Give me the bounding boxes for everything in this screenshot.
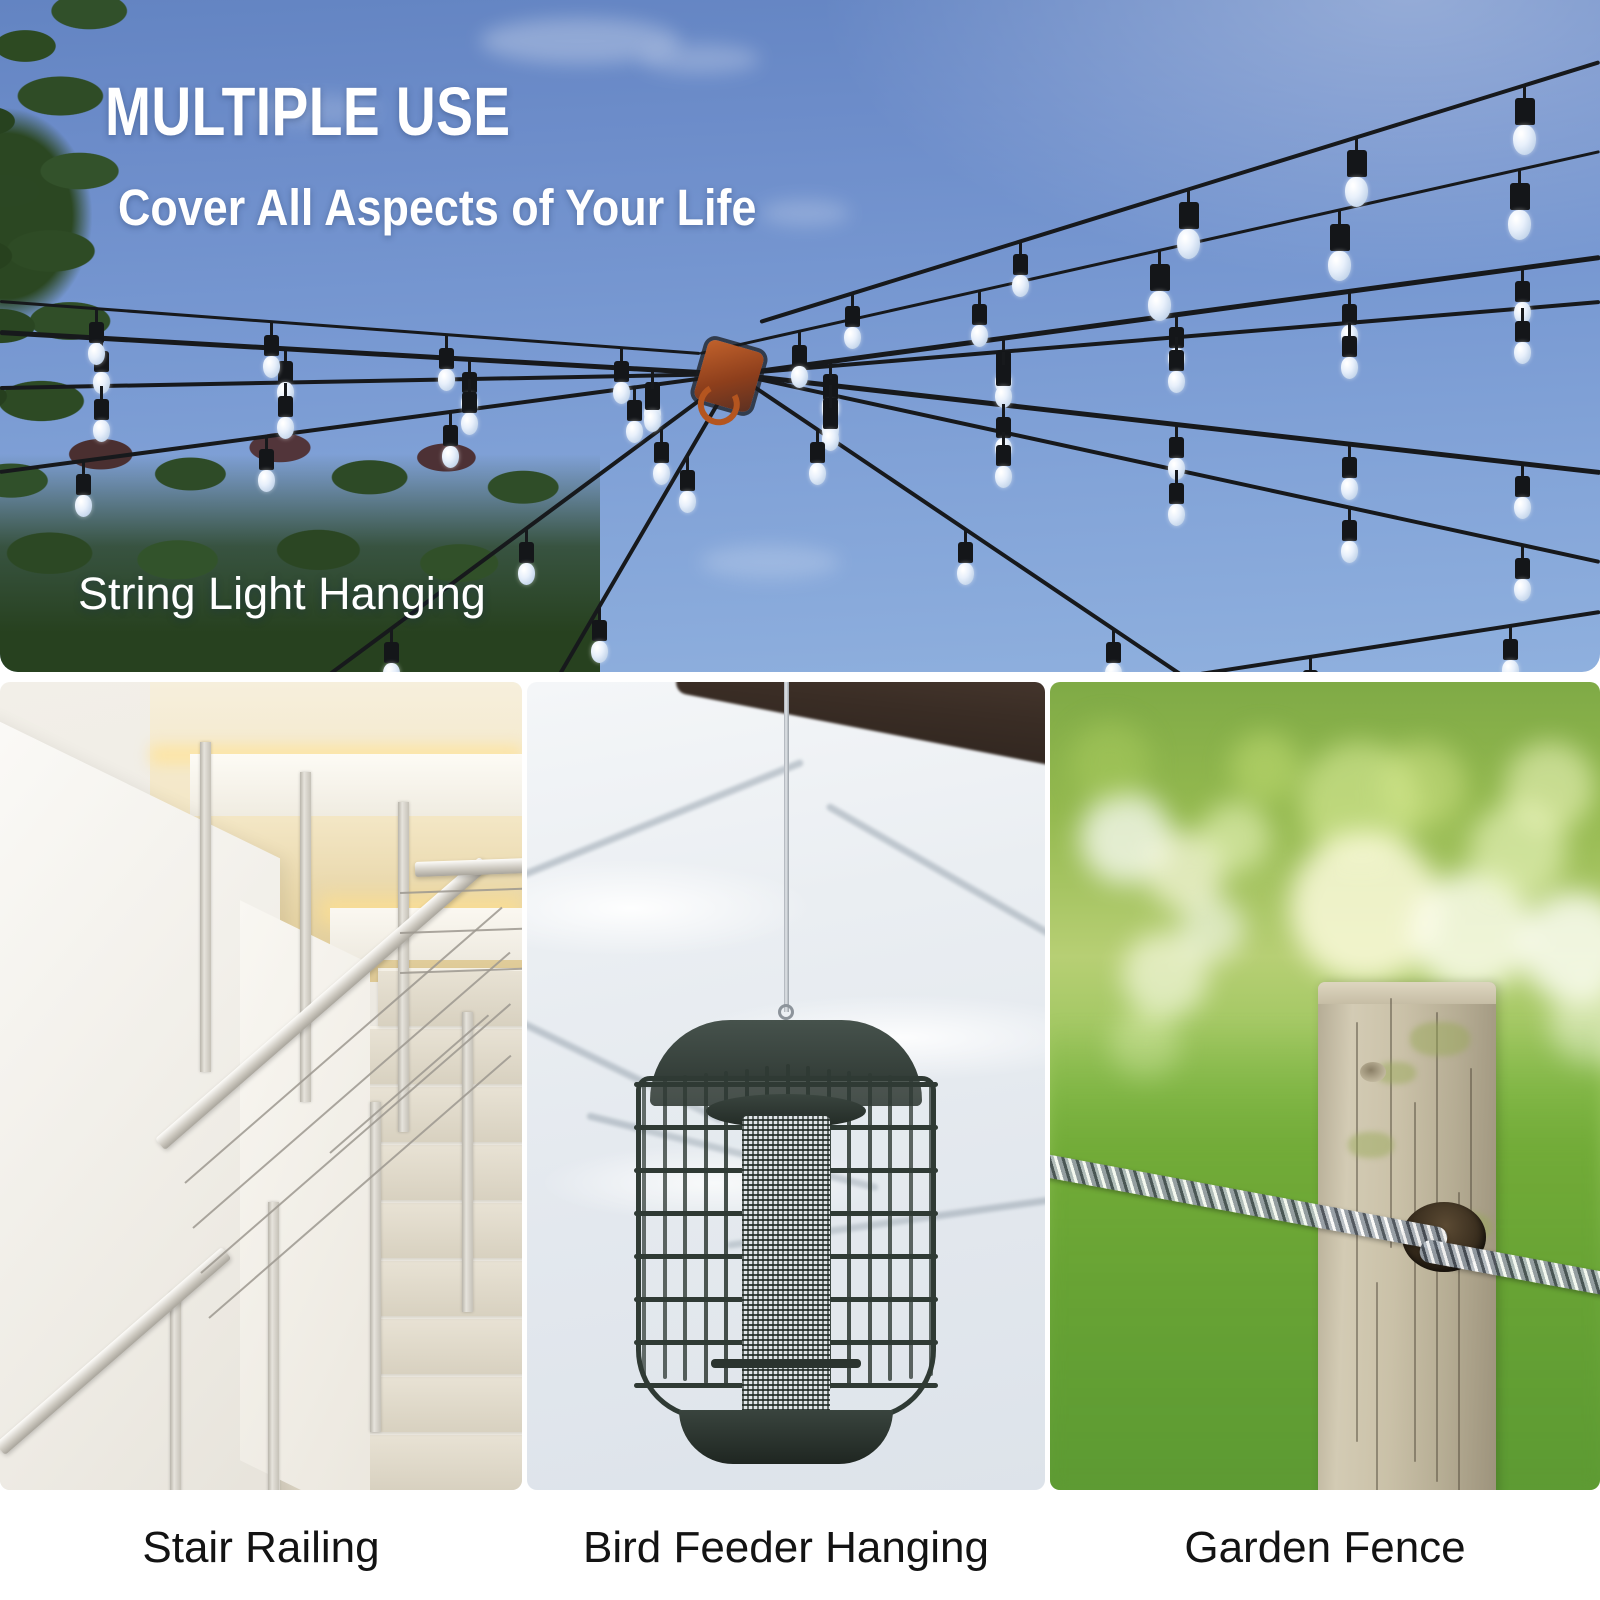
wall-ledge xyxy=(190,754,522,816)
light-bulb xyxy=(1513,85,1536,155)
panel-captions: Stair Railing Bird Feeder Hanging Garden… xyxy=(0,1496,1600,1600)
light-bulb xyxy=(971,291,988,347)
cable-hub-connector xyxy=(693,338,766,414)
light-bulb xyxy=(1012,241,1029,297)
railing-post xyxy=(370,1102,381,1432)
light-bulb xyxy=(1508,170,1531,240)
hero-image-string-light-hanging: MULTIPLE USE Cover All Aspects of Your L… xyxy=(0,0,1600,672)
light-bulb xyxy=(1168,337,1185,393)
light-bulb xyxy=(644,376,661,432)
light-bulb xyxy=(1341,323,1358,379)
light-bulb xyxy=(263,322,280,378)
panel-stair-railing xyxy=(0,682,522,1490)
caption-garden-fence: Garden Fence xyxy=(1050,1496,1600,1600)
light-bulb xyxy=(1341,444,1358,500)
hanging-steel-cable xyxy=(784,682,789,1012)
bokeh-spot xyxy=(1230,732,1300,802)
garden-fence-photo xyxy=(1050,682,1600,1490)
caption-bird-feeder-hanging: Bird Feeder Hanging xyxy=(527,1496,1045,1600)
light-bulb xyxy=(258,436,275,492)
product-feature-image: MULTIPLE USE Cover All Aspects of Your L… xyxy=(0,0,1600,1600)
railing-post xyxy=(462,1012,473,1312)
light-bulb xyxy=(438,335,455,391)
wood-crack xyxy=(1414,1102,1416,1462)
caption-stair-railing: Stair Railing xyxy=(0,1496,522,1600)
light-cable xyxy=(1200,610,1600,672)
light-bulb xyxy=(1514,308,1531,364)
moss-patch xyxy=(1410,1022,1470,1056)
light-bulb xyxy=(995,352,1012,408)
light-bulb xyxy=(461,379,478,435)
hero-caption: String Light Hanging xyxy=(78,571,486,616)
light-bulb xyxy=(88,309,105,365)
cloud xyxy=(760,200,850,226)
railing-post xyxy=(200,742,211,1072)
cage-vertical-wire xyxy=(868,1073,872,1384)
bird-feeder-photo xyxy=(527,682,1045,1490)
cage-horizontal-ring xyxy=(634,1082,938,1087)
cage-vertical-wire xyxy=(909,1078,913,1379)
light-bulb xyxy=(591,607,608,663)
wood-knot xyxy=(1360,1062,1386,1082)
railing-post xyxy=(170,1292,181,1490)
light-bulb xyxy=(277,383,294,439)
light-bulb xyxy=(1168,470,1185,526)
cloud xyxy=(640,44,760,74)
cage-vertical-wire xyxy=(663,1078,667,1379)
cable-loop xyxy=(778,1004,794,1020)
light-bulb xyxy=(1341,507,1358,563)
light-bulb xyxy=(791,332,808,388)
cage-vertical-wire xyxy=(704,1073,708,1384)
panel-bird-feeder-hanging xyxy=(527,682,1045,1490)
light-bulb xyxy=(1148,251,1171,321)
light-bulb xyxy=(1345,137,1368,207)
light-bulb xyxy=(1105,629,1122,672)
light-bulb xyxy=(957,529,974,585)
light-bulb xyxy=(1177,189,1200,259)
bokeh-spot xyxy=(1180,897,1244,961)
bokeh-spot xyxy=(1070,722,1150,802)
light-bulb xyxy=(809,429,826,485)
bokeh-spot xyxy=(1380,742,1466,828)
light-bulb xyxy=(1302,657,1319,672)
panel-garden-fence xyxy=(1050,682,1600,1490)
light-bulb xyxy=(442,412,459,468)
wood-crack xyxy=(1376,1282,1378,1490)
light-bulb xyxy=(93,386,110,442)
stair-railing-photo xyxy=(0,682,522,1490)
railing-post xyxy=(398,802,409,1132)
light-bulb xyxy=(679,457,696,513)
light-bulb xyxy=(995,432,1012,488)
light-bulb xyxy=(75,461,92,517)
seed-mesh-tube xyxy=(742,1116,830,1416)
feeder-base-tray xyxy=(679,1410,893,1464)
light-bulb xyxy=(844,293,861,349)
wood-crack xyxy=(1390,998,1392,1248)
cloud xyxy=(700,545,840,579)
light-bulb xyxy=(383,629,400,672)
bokeh-spot xyxy=(1505,742,1595,832)
cage-vertical-wire xyxy=(683,1075,687,1381)
light-bulb xyxy=(1328,211,1351,281)
cage-vertical-wire xyxy=(888,1075,892,1381)
light-bulb xyxy=(1514,463,1531,519)
hero-subtitle: Cover All Aspects of Your Life xyxy=(118,182,756,233)
hero-title: MULTIPLE USE xyxy=(105,77,511,146)
caged-bird-feeder xyxy=(636,1020,936,1450)
railing-post xyxy=(268,1202,279,1490)
feeder-perch xyxy=(711,1359,861,1368)
light-bulb xyxy=(518,529,535,585)
bokeh-spot xyxy=(1200,802,1270,872)
moss-patch xyxy=(1348,1132,1394,1158)
railing-post xyxy=(300,772,311,1102)
light-bulb xyxy=(1514,545,1531,601)
use-case-panel-row xyxy=(0,682,1600,1490)
light-bulb xyxy=(626,387,643,443)
light-bulb xyxy=(1502,626,1519,672)
light-bulb xyxy=(653,429,670,485)
